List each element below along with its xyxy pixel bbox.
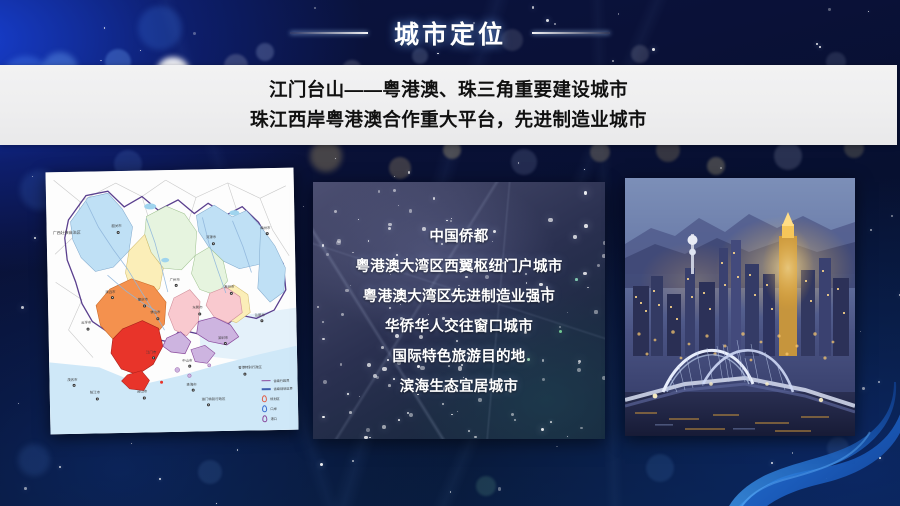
- map-city-marker: [230, 292, 233, 295]
- background-particle: [303, 206, 304, 207]
- map-city-marker: [143, 396, 146, 399]
- background-particle: [720, 167, 722, 169]
- background-particle: [21, 306, 24, 309]
- map-city-label: 茂名市: [67, 377, 77, 382]
- map-svg: [46, 168, 299, 435]
- bokeh-circle: [511, 149, 537, 175]
- bokeh-circle: [646, 454, 674, 482]
- slide-root: 城市定位 江门台山——粤港澳、珠三角重要建设城市 珠江西岸粤港澳合作重大平台，先…: [0, 0, 900, 506]
- map-city-marker: [87, 327, 90, 330]
- background-particle: [34, 237, 36, 239]
- legend-bubble-icon: [262, 395, 268, 402]
- background-particle: [320, 463, 323, 466]
- background-particle: [216, 503, 217, 504]
- background-particle: [159, 478, 160, 479]
- bokeh-circle: [389, 157, 411, 179]
- map-city-label: 云浮市: [81, 320, 91, 325]
- guangdong-map-image: 韶关市河源市梅州市清远市肇庆市广州市惠州市云浮市佛山市东莞市汕尾市江门市中山市珠…: [46, 168, 299, 435]
- map-city-marker: [223, 342, 226, 345]
- slide-title-bar: 城市定位: [0, 0, 900, 65]
- background-particle: [59, 466, 61, 468]
- map-city-label: 珠海市: [186, 381, 196, 386]
- map-city-label: 河源市: [206, 234, 216, 239]
- title-rule-right-icon: [532, 32, 610, 34]
- map-city-label: 阳江市: [90, 389, 100, 394]
- map-city-label: 东莞市: [192, 305, 202, 310]
- map-city-label: 佛山市: [150, 310, 160, 315]
- subtitle-band: 江门台山——粤港澳、珠三角重要建设城市 珠江西岸粤港澳合作重大平台，先进制造业城…: [0, 65, 897, 145]
- map-city-marker: [198, 312, 201, 315]
- map-region-label: 广西壮族自治区: [53, 230, 81, 237]
- background-particle: [237, 449, 238, 450]
- background-particle: [518, 162, 519, 163]
- map-legend-label: 港口: [270, 416, 276, 421]
- map-legend-row: 省级行政界: [261, 378, 292, 384]
- city-photo-svg: [625, 178, 855, 436]
- panel-line-5: 国际特色旅游目的地: [392, 345, 525, 366]
- map-city-label: 香港特别行政区: [238, 365, 262, 370]
- map-legend-label: 规划区: [270, 396, 280, 401]
- map-city-label: 韶关市: [111, 223, 121, 228]
- map-city-label: 澳门特别行政区: [202, 396, 226, 401]
- map-city-marker: [95, 397, 98, 400]
- background-particle: [450, 491, 451, 492]
- map-city-label: 汕尾市: [254, 312, 264, 317]
- bokeh-circle: [476, 476, 496, 496]
- map-city-marker: [156, 317, 159, 320]
- panel-line-2: 粤港澳大湾区西翼枢纽门户城市: [355, 255, 562, 276]
- legend-bubble-icon: [262, 405, 268, 412]
- background-particle: [24, 487, 27, 490]
- background-particle: [556, 446, 557, 447]
- panel-text-list: 中国侨都 粤港澳大湾区西翼枢纽门户城市 粤港澳大湾区先进制造业强市 华侨华人交往…: [313, 225, 605, 396]
- background-particle: [408, 171, 410, 173]
- background-particle: [891, 215, 894, 218]
- positioning-text-panel: 中国侨都 粤港澳大湾区西翼枢纽门户城市 粤港澳大湾区先进制造业强市 华侨华人交往…: [313, 182, 605, 439]
- map-city-label: 清远市: [105, 289, 115, 294]
- panel-line-4: 华侨华人交往窗口城市: [385, 315, 533, 336]
- map-legend: 省级行政界省级规划区界规划区口岸港口: [261, 378, 293, 422]
- background-particle: [498, 487, 501, 490]
- bokeh-circle: [18, 444, 50, 476]
- map-legend-row: 口岸: [262, 405, 293, 413]
- map-legend-row: 港口: [262, 415, 293, 423]
- panel-line-6: 滨海生态宜居城市: [400, 375, 518, 396]
- map-city-label: 中山市: [182, 357, 192, 362]
- city-night-photo: [625, 178, 855, 436]
- map-legend-label: 口岸: [270, 406, 276, 411]
- legend-line-icon: [262, 388, 271, 389]
- panel-line-3: 粤港澳大湾区先进制造业强市: [363, 285, 555, 306]
- map-legend-row: 省级规划区界: [262, 386, 293, 392]
- panel-line-1: 中国侨都: [429, 225, 488, 246]
- background-particle: [870, 229, 872, 231]
- map-city-label: 台山市: [137, 389, 147, 394]
- background-particle: [584, 169, 585, 170]
- background-particle: [394, 176, 395, 177]
- page-title: 城市定位: [394, 15, 506, 51]
- map-city-label: 惠州市: [224, 284, 234, 289]
- map-city-label: 深圳市: [218, 335, 228, 340]
- subtitle-line-2: 珠江西岸粤港澳合作重大平台，先进制造业城市: [250, 105, 647, 135]
- map-canvas: [46, 168, 299, 435]
- title-rule-left-icon: [290, 32, 368, 34]
- map-city-label: 梅州市: [260, 225, 270, 230]
- legend-line-icon: [261, 380, 270, 381]
- background-particle: [32, 176, 33, 177]
- background-particle: [860, 331, 861, 332]
- background-particle: [131, 443, 132, 444]
- map-city-marker: [188, 365, 191, 368]
- map-legend-label: 省级行政界: [273, 378, 289, 383]
- map-city-marker: [212, 242, 215, 245]
- subtitle-line-1: 江门台山——粤港澳、珠三角重要建设城市: [269, 75, 628, 105]
- bokeh-circle: [774, 142, 802, 170]
- bokeh-circle: [198, 460, 222, 484]
- map-city-label: 肇庆市: [138, 297, 148, 302]
- map-city-label: 广州市: [169, 277, 179, 282]
- map-legend-label: 省级规划区界: [274, 386, 293, 391]
- background-particle: [18, 403, 19, 404]
- map-city-label: 江门市: [146, 349, 156, 354]
- map-legend-row: 规划区: [262, 394, 293, 402]
- background-particle: [352, 460, 354, 462]
- legend-bubble-icon: [262, 415, 268, 422]
- bokeh-circle: [590, 142, 610, 162]
- bokeh-circle: [707, 157, 725, 175]
- background-particle: [335, 158, 336, 159]
